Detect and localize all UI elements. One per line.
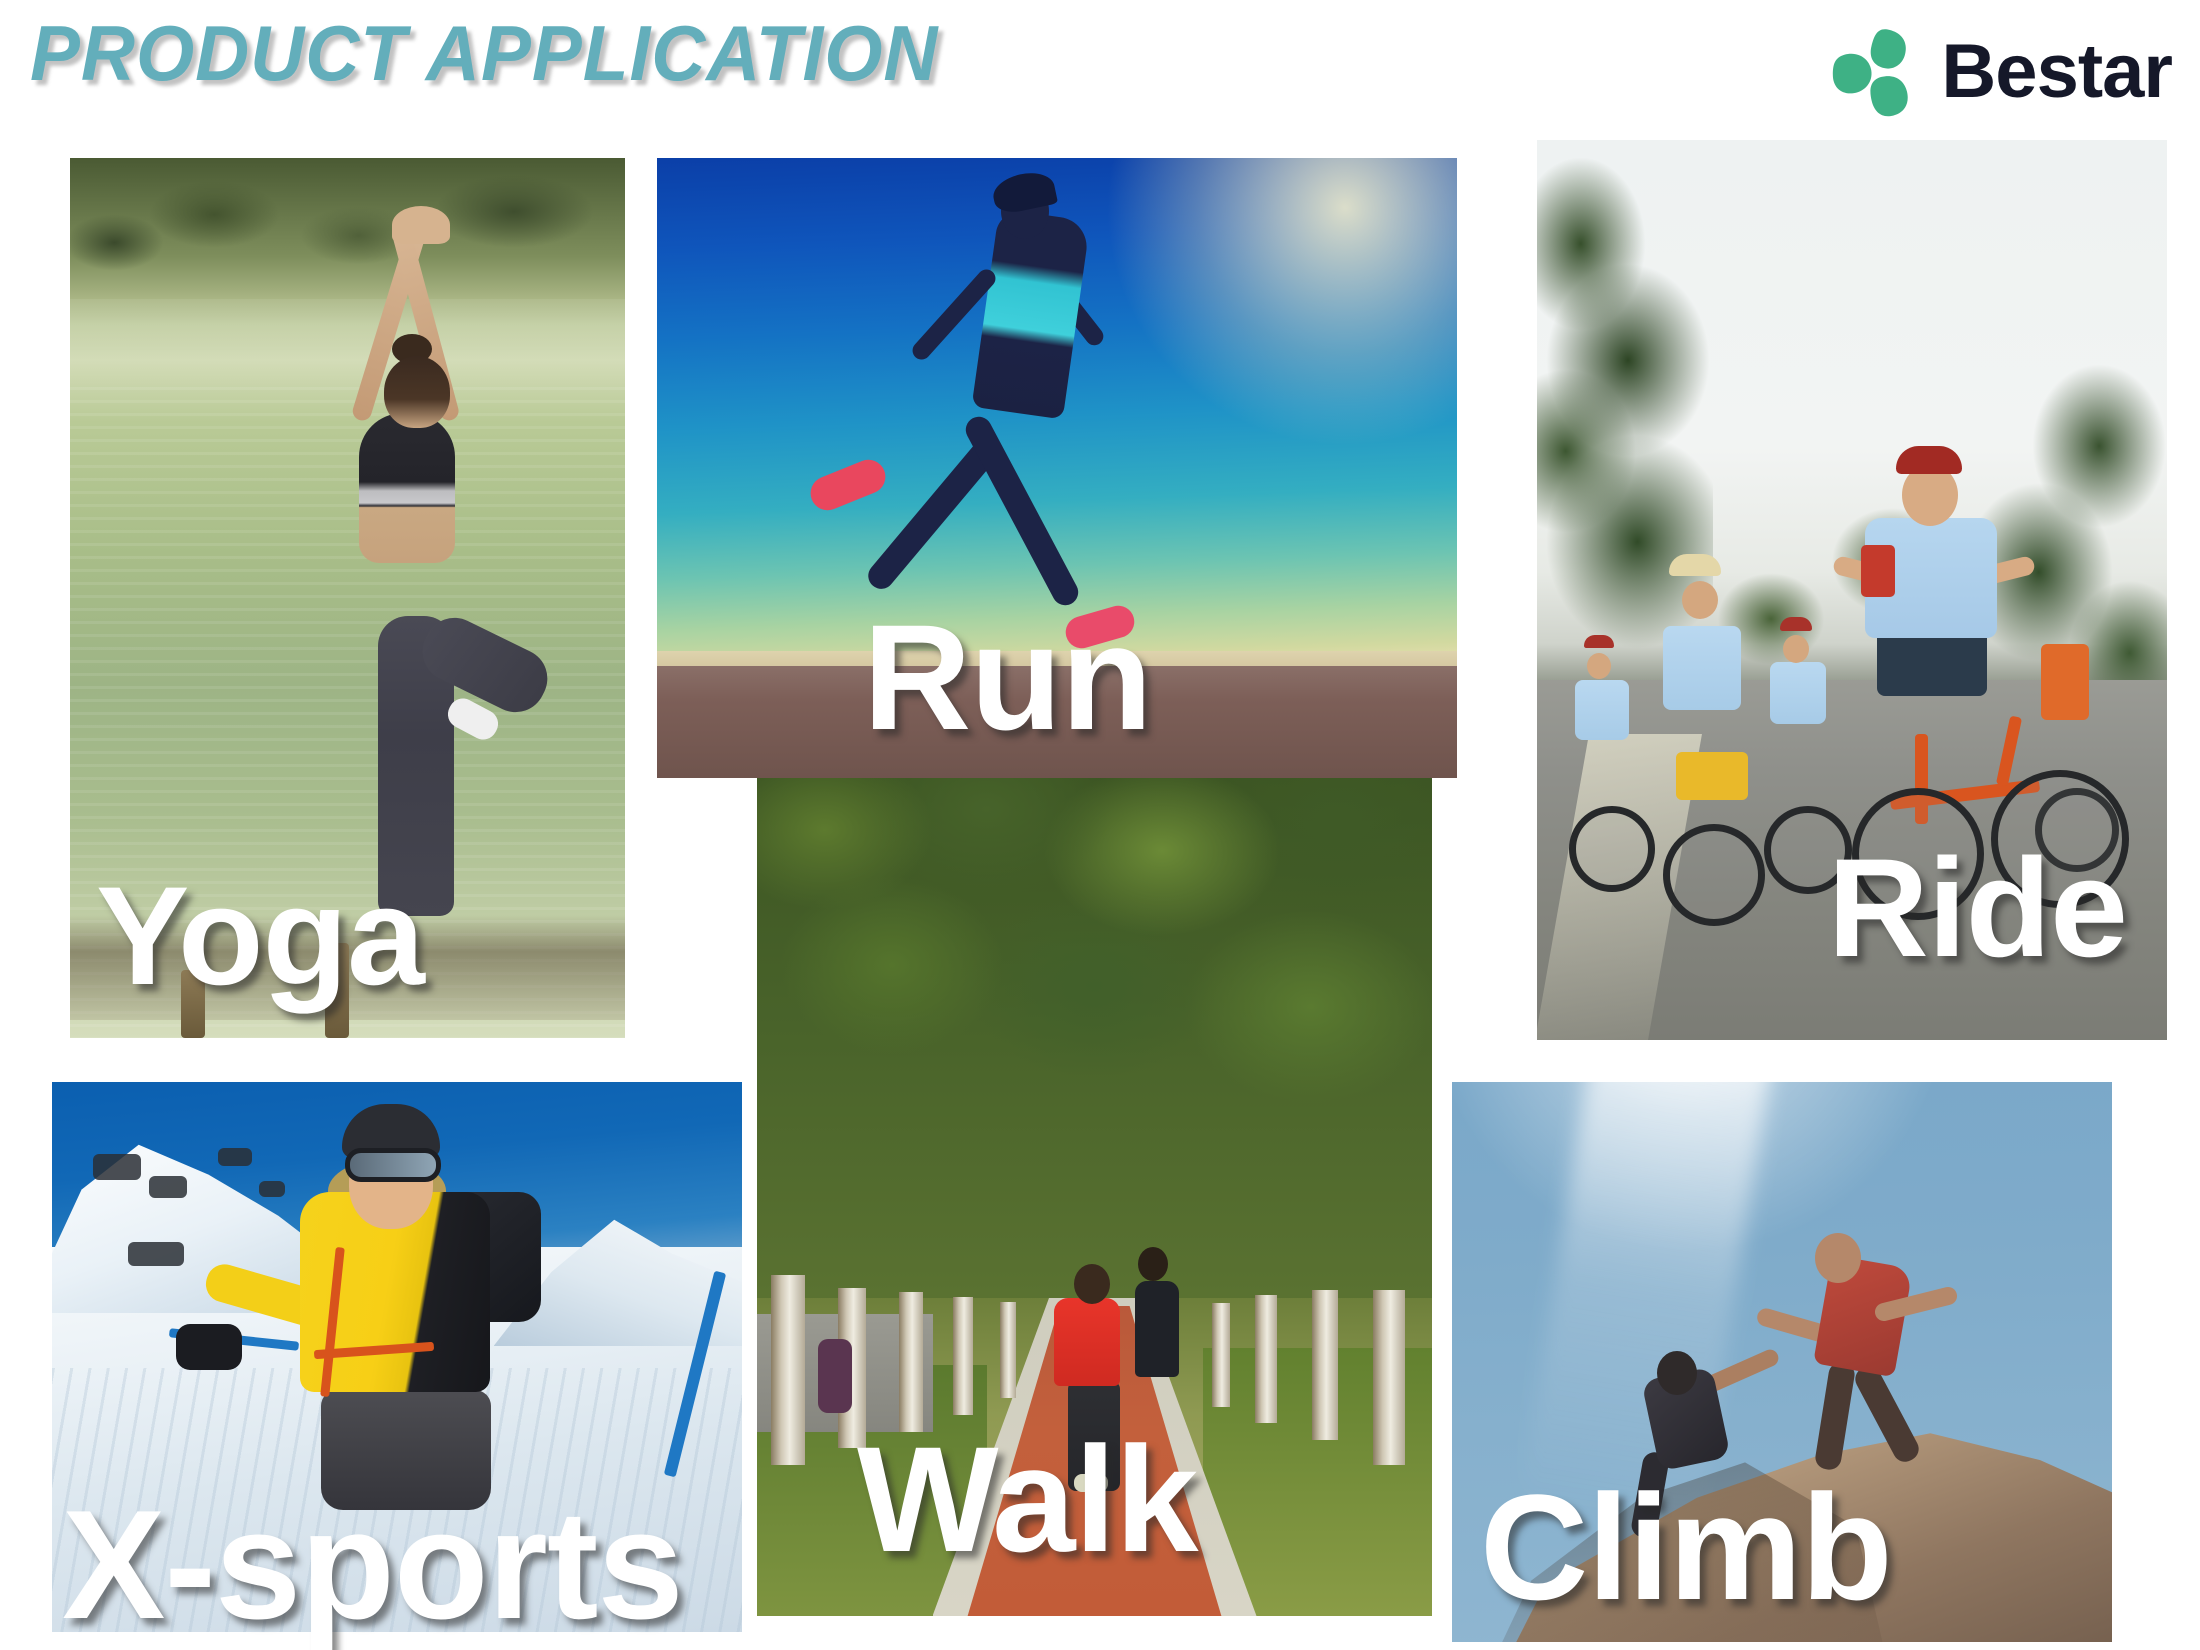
ride-cyclist-sun-hat [1669,554,1721,576]
ride-cyclist-far-cap [1584,635,1614,648]
walk-distant-person [1135,1281,1179,1377]
walk-tree-trunk [1312,1290,1338,1440]
ride-bike-wheel [1569,806,1655,892]
ride-cyclist-far-shirt [1663,626,1741,710]
ride-cyclist-far-shirt [1575,680,1629,740]
xsports-skier-glove [176,1324,242,1370]
ride-cyclist-far-head [1682,581,1718,619]
xsports-rock-outcrop [259,1181,285,1197]
xsports-rock-outcrop [93,1154,141,1180]
walk-tree-trunk [953,1297,973,1415]
panel-label-climb: Climb [1480,1476,1892,1619]
brand-wordmark: Bestar [1941,34,2172,110]
ride-bike-wheel [1663,824,1765,926]
panel-label-yoga: Yoga [96,869,424,1002]
panel-ride[interactable]: Ride [1537,140,2167,1040]
ride-cyclist-armband [1861,545,1895,597]
xsports-rock-outcrop [218,1148,252,1166]
panel-label-run: Run [863,606,1152,749]
walk-tree-trunk [1373,1290,1405,1465]
xsports-skier-goggles [345,1148,441,1182]
climb-helper-head [1815,1233,1861,1283]
xsports-rock-outcrop [128,1242,184,1266]
bestar-pinwheel-mark-icon [1829,24,1925,120]
panel-run[interactable]: Run [657,158,1457,778]
yoga-treeline [70,158,625,299]
panel-climb[interactable]: Climb [1452,1082,2112,1642]
ride-cyclist-red-cap [1896,446,1962,474]
ride-cargo-box [1676,752,1748,800]
yoga-figure-torso [359,413,455,563]
walk-tree-trunk [1212,1303,1230,1407]
yoga-figure-head [384,356,450,428]
panel-walk[interactable]: Walk [757,778,1432,1616]
walk-tree-trunk [1000,1302,1016,1398]
ride-cyclist-far-cap [1780,617,1812,631]
walk-tree-canopy [757,778,1432,1298]
ride-cyclist-orange-shirt [2041,644,2089,720]
walk-walker-red-shirt [1054,1298,1120,1386]
yoga-figure-hands [392,206,450,244]
panel-xsports[interactable]: X-sports [52,1082,742,1632]
walk-tree-trunk [899,1292,923,1432]
ride-cyclist-far-shirt [1770,662,1826,724]
walk-tree-trunk [1255,1295,1277,1423]
panel-label-walk: Walk [857,1428,1198,1571]
panel-label-xsports: X-sports [62,1491,683,1638]
brand-logo: Bestar [1829,24,2172,120]
panel-yoga[interactable]: Yoga [70,158,625,1038]
product-application-slide: PRODUCT APPLICATION Bestar Yoga [0,0,2200,1650]
climb-climber-head [1657,1351,1697,1395]
walk-tree-trunk [771,1275,805,1465]
panel-label-ride: Ride [1828,841,2127,974]
ride-cyclist-far-head [1783,635,1809,663]
page-title: PRODUCT APPLICATION [30,8,938,99]
walk-distant-person [818,1339,852,1413]
xsports-rock-outcrop [149,1176,187,1198]
